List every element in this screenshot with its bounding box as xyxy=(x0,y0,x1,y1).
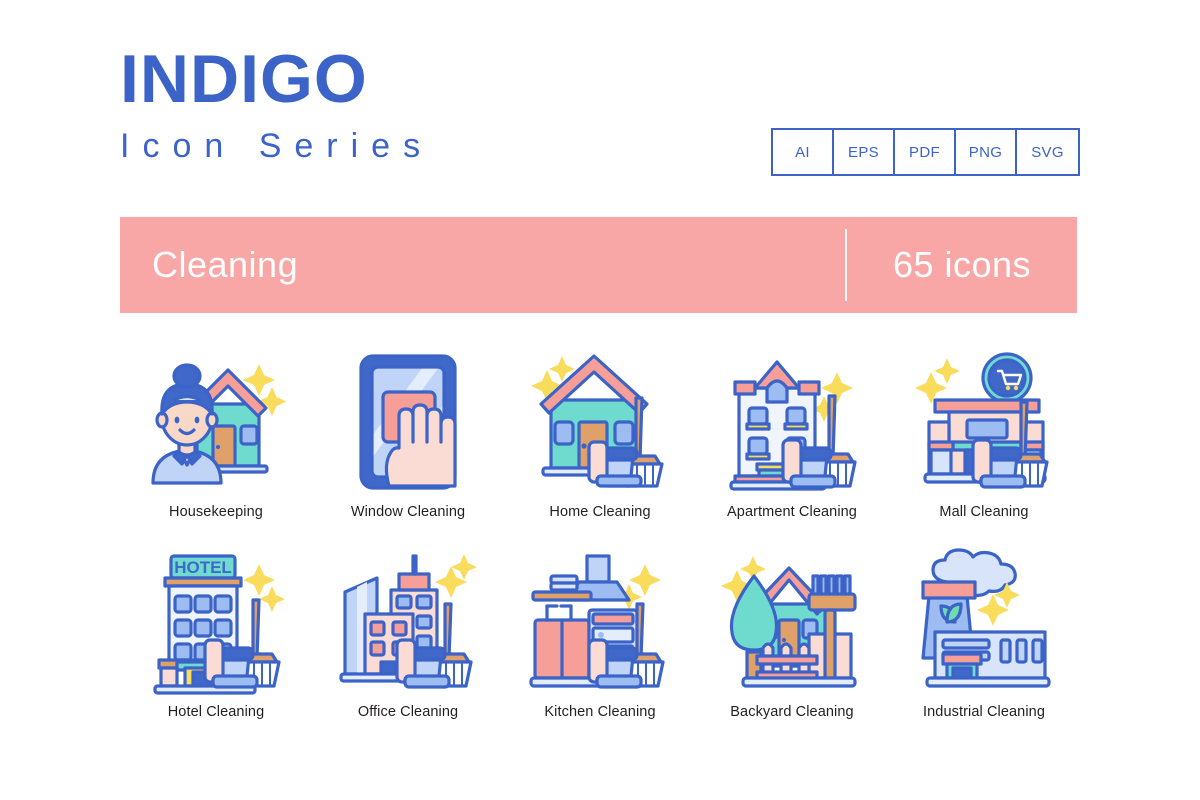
icon-label: Industrial Cleaning xyxy=(923,704,1045,720)
icon-cell-apartment-cleaning[interactable]: Apartment Cleaning xyxy=(696,348,888,548)
icon-label: Mall Cleaning xyxy=(939,504,1028,520)
icon-cell-backyard-cleaning[interactable]: Backyard Cleaning xyxy=(696,548,888,748)
icon-cell-mall-cleaning[interactable]: Mall Cleaning xyxy=(888,348,1080,548)
category-name: Cleaning xyxy=(152,244,298,286)
icon-label: Home Cleaning xyxy=(549,504,650,520)
icon-label: Office Cleaning xyxy=(358,704,458,720)
format-badge-svg[interactable]: SVG xyxy=(1017,130,1078,174)
icon-label: Kitchen Cleaning xyxy=(544,704,655,720)
home-cleaning-icon xyxy=(525,348,675,498)
icon-cell-office-cleaning[interactable]: Office Cleaning xyxy=(312,548,504,748)
industrial-cleaning-icon xyxy=(909,548,1059,698)
office-cleaning-icon xyxy=(333,548,483,698)
icon-cell-home-cleaning[interactable]: Home Cleaning xyxy=(504,348,696,548)
format-badge-png[interactable]: PNG xyxy=(956,130,1017,174)
icon-grid: Housekeeping xyxy=(120,348,1080,748)
icon-cell-window-cleaning[interactable]: Window Cleaning xyxy=(312,348,504,548)
icon-cell-hotel-cleaning[interactable]: HOTEL xyxy=(120,548,312,748)
format-badge-ai[interactable]: AI xyxy=(773,130,834,174)
icon-label: Window Cleaning xyxy=(351,504,465,520)
kitchen-cleaning-icon xyxy=(525,548,675,698)
icon-label: Housekeeping xyxy=(169,504,263,520)
header: INDIGO Icon Series AI EPS PDF PNG SVG xyxy=(120,46,1080,186)
format-badge-pdf[interactable]: PDF xyxy=(895,130,956,174)
banner-divider xyxy=(845,229,847,301)
backyard-cleaning-icon xyxy=(717,548,867,698)
icon-count: 65 icons xyxy=(847,244,1077,286)
housekeeping-icon xyxy=(141,348,291,498)
icon-cell-kitchen-cleaning[interactable]: Kitchen Cleaning xyxy=(504,548,696,748)
page-title: INDIGO xyxy=(120,46,1080,113)
icon-cell-housekeeping[interactable]: Housekeeping xyxy=(120,348,312,548)
mall-cleaning-icon xyxy=(909,348,1059,498)
icon-cell-industrial-cleaning[interactable]: Industrial Cleaning xyxy=(888,548,1080,748)
icon-label: Apartment Cleaning xyxy=(727,504,857,520)
category-banner: Cleaning 65 icons xyxy=(120,217,1077,313)
icon-pack-preview: INDIGO Icon Series AI EPS PDF PNG SVG Cl… xyxy=(0,0,1200,800)
format-badge-group: AI EPS PDF PNG SVG xyxy=(771,128,1080,176)
hotel-sign-text: HOTEL xyxy=(174,558,232,577)
icon-label: Backyard Cleaning xyxy=(730,704,853,720)
hotel-cleaning-icon: HOTEL xyxy=(141,548,291,698)
icon-label: Hotel Cleaning xyxy=(168,704,265,720)
window-cleaning-icon xyxy=(333,348,483,498)
apartment-cleaning-icon xyxy=(717,348,867,498)
banner-right-group: 65 icons xyxy=(845,217,1077,313)
format-badge-eps[interactable]: EPS xyxy=(834,130,895,174)
